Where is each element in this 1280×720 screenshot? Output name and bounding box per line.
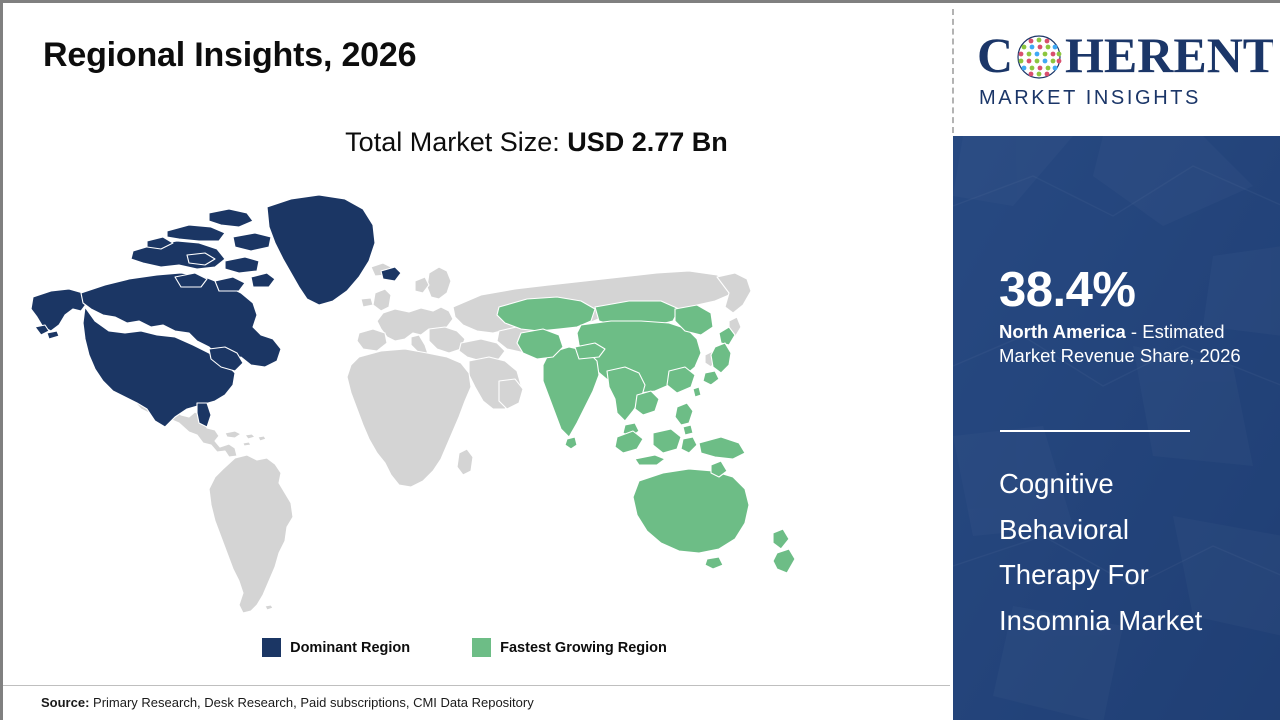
stat-panel: 38.4% North America - Estimated Market R… xyxy=(953,136,1280,720)
total-market-size: Total Market Size: USD 2.77 Bn xyxy=(3,127,950,158)
svg-text:C: C xyxy=(977,27,1013,83)
stat-value: 38.4% xyxy=(999,266,1135,315)
market-name: Cognitive Behavioral Therapy For Insomni… xyxy=(999,461,1234,644)
legend-swatch-fastest-growing-icon xyxy=(472,638,491,657)
stat-panel-divider xyxy=(1000,430,1190,432)
legend-label-dominant: Dominant Region xyxy=(290,640,410,656)
source-text: Primary Research, Desk Research, Paid su… xyxy=(89,695,533,710)
total-market-size-label: Total Market Size: xyxy=(345,127,567,157)
legend-item-fastest-growing: Fastest Growing Region xyxy=(472,638,667,657)
coherent-market-insights-logo-icon: C HERENT MARKET INSIGHTS xyxy=(973,24,1273,116)
page-title: Regional Insights, 2026 xyxy=(43,36,416,75)
legend-item-dominant: Dominant Region xyxy=(262,638,410,657)
source-divider xyxy=(3,685,950,686)
stat-region-name: North America xyxy=(999,321,1126,342)
world-map-container xyxy=(29,181,839,629)
world-map-svg xyxy=(29,181,839,629)
source-note: Source: Primary Research, Desk Research,… xyxy=(41,695,534,710)
brand-logo: C HERENT MARKET INSIGHTS xyxy=(963,3,1280,136)
stat-description: North America - Estimated Market Revenue… xyxy=(999,320,1267,367)
legend-label-fastest-growing: Fastest Growing Region xyxy=(500,640,667,656)
map-legend: Dominant Region Fastest Growing Region xyxy=(3,638,950,657)
left-content-pane: Regional Insights, 2026 Total Market Siz… xyxy=(3,3,950,720)
stat-panel-content: 38.4% North America - Estimated Market R… xyxy=(999,136,1261,720)
map-region-north-america-dominant xyxy=(31,195,401,427)
globe-dots-icon xyxy=(1018,36,1061,78)
source-label: Source: xyxy=(41,695,89,710)
svg-text:MARKET INSIGHTS: MARKET INSIGHTS xyxy=(979,87,1201,109)
svg-text:HERENT: HERENT xyxy=(1065,27,1273,83)
total-market-size-value: USD 2.77 Bn xyxy=(567,127,728,157)
vertical-dashed-divider xyxy=(952,9,954,133)
map-region-asia-pacific-fastest xyxy=(497,297,795,573)
regional-insights-slide: Regional Insights, 2026 Total Market Siz… xyxy=(0,0,1280,720)
legend-swatch-dominant-icon xyxy=(262,638,281,657)
